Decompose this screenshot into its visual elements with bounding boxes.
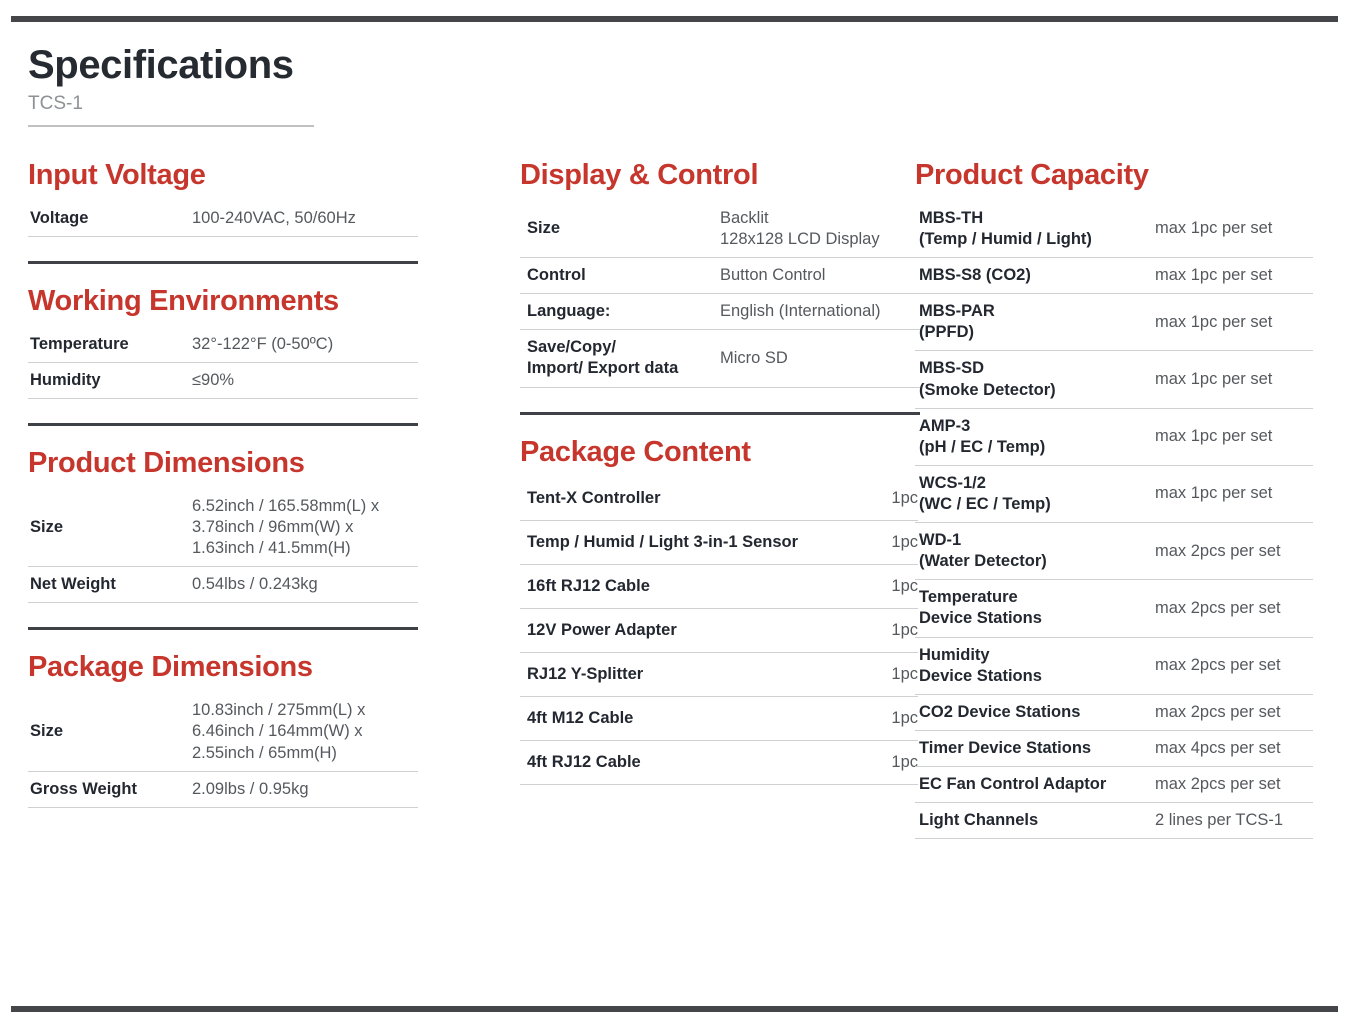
table-row: MBS-TH (Temp / Humid / Light) max 1pc pe… [915, 201, 1313, 258]
section-product-dimensions: Product Dimensions Size 6.52inch / 165.5… [28, 448, 470, 603]
package-item-name: 4ft RJ12 Cable [520, 741, 858, 785]
table-row: MBS-SD (Smoke Detector) max 1pc per set [915, 351, 1313, 408]
capacity-name: Light Channels [915, 803, 1155, 839]
capacity-qty: max 1pc per set [1155, 465, 1313, 522]
row-value: ≤90% [190, 363, 418, 399]
row-value: 0.54lbs / 0.243kg [190, 567, 418, 603]
package-item-name: 4ft M12 Cable [520, 697, 858, 741]
list-item: 4ft RJ12 Cable 1pc [520, 741, 918, 785]
capacity-name: MBS-TH (Temp / Humid / Light) [915, 201, 1155, 258]
row-label: Humidity [28, 363, 190, 399]
row-label: Size [28, 693, 190, 771]
page-header: Specifications TCS-1 [28, 44, 328, 127]
capacity-name: EC Fan Control Adaptor [915, 766, 1155, 802]
capacity-qty: max 1pc per set [1155, 201, 1313, 258]
table-row: Temperature Device Stations max 2pcs per… [915, 580, 1313, 637]
package-item-name: Tent-X Controller [520, 477, 858, 521]
list-item: 16ft RJ12 Cable 1pc [520, 565, 918, 609]
list-item: Tent-X Controller 1pc [520, 477, 918, 521]
row-label: Temperature [28, 327, 190, 363]
row-value: 100-240VAC, 50/60Hz [190, 201, 418, 237]
row-value: Micro SD [720, 330, 920, 387]
capacity-qty: max 1pc per set [1155, 351, 1313, 408]
section-title-input-voltage: Input Voltage [28, 160, 470, 192]
table-product-capacity: MBS-TH (Temp / Humid / Light) max 1pc pe… [915, 201, 1313, 839]
row-label: Save/Copy/ Import/ Export data [520, 330, 720, 387]
capacity-name: Temperature Device Stations [915, 580, 1155, 637]
row-label: Size [28, 489, 190, 567]
table-row: Control Button Control [520, 258, 920, 294]
capacity-qty: max 1pc per set [1155, 408, 1313, 465]
capacity-qty: max 1pc per set [1155, 294, 1313, 351]
table-row: Size 10.83inch / 275mm(L) x 6.46inch / 1… [28, 693, 418, 771]
table-row: WCS-1/2 (WC / EC / Temp) max 1pc per set [915, 465, 1313, 522]
column-left: Input Voltage Voltage 100-240VAC, 50/60H… [0, 160, 470, 839]
row-label: Control [520, 258, 720, 294]
row-label: Gross Weight [28, 771, 190, 807]
column-right: Product Capacity MBS-TH (Temp / Humid / … [900, 160, 1349, 839]
table-row: Size Backlit 128x128 LCD Display [520, 201, 920, 258]
table-row: Timer Device Stations max 4pcs per set [915, 730, 1313, 766]
section-input-voltage: Input Voltage Voltage 100-240VAC, 50/60H… [28, 160, 470, 237]
table-row: Gross Weight 2.09lbs / 0.95kg [28, 771, 418, 807]
capacity-qty: max 2pcs per set [1155, 523, 1313, 580]
section-title-package-content: Package Content [520, 437, 900, 469]
section-title-working-environments: Working Environments [28, 286, 470, 318]
row-label: Voltage [28, 201, 190, 237]
top-rule [11, 16, 1338, 22]
table-row: Voltage 100-240VAC, 50/60Hz [28, 201, 418, 237]
capacity-name: Timer Device Stations [915, 730, 1155, 766]
table-row: MBS-PAR (PPFD) max 1pc per set [915, 294, 1313, 351]
table-row: Light Channels 2 lines per TCS-1 [915, 803, 1313, 839]
row-value: 6.52inch / 165.58mm(L) x 3.78inch / 96mm… [190, 489, 418, 567]
section-separator [520, 412, 920, 415]
row-value: English (International) [720, 294, 920, 330]
capacity-qty: max 2pcs per set [1155, 637, 1313, 694]
capacity-qty: max 4pcs per set [1155, 730, 1313, 766]
section-product-capacity: Product Capacity MBS-TH (Temp / Humid / … [915, 160, 1349, 839]
section-separator [28, 627, 418, 630]
table-product-dimensions: Size 6.52inch / 165.58mm(L) x 3.78inch /… [28, 489, 418, 603]
table-row: AMP-3 (pH / EC / Temp) max 1pc per set [915, 408, 1313, 465]
table-row: Save/Copy/ Import/ Export data Micro SD [520, 330, 920, 387]
row-value: Button Control [720, 258, 920, 294]
package-item-name: Temp / Humid / Light 3-in-1 Sensor [520, 521, 858, 565]
table-working-environments: Temperature 32°-122°F (0-50ºC) Humidity … [28, 327, 418, 399]
capacity-name: Humidity Device Stations [915, 637, 1155, 694]
section-separator [28, 261, 418, 264]
section-title-display-control: Display & Control [520, 160, 900, 192]
capacity-name: WCS-1/2 (WC / EC / Temp) [915, 465, 1155, 522]
row-value: Backlit 128x128 LCD Display [720, 201, 920, 258]
table-package-content: Tent-X Controller 1pc Temp / Humid / Lig… [520, 477, 918, 785]
capacity-qty: max 2pcs per set [1155, 766, 1313, 802]
table-package-dimensions: Size 10.83inch / 275mm(L) x 6.46inch / 1… [28, 693, 418, 807]
capacity-name: MBS-SD (Smoke Detector) [915, 351, 1155, 408]
page-subtitle-model: TCS-1 [28, 93, 314, 127]
capacity-qty: max 1pc per set [1155, 258, 1313, 294]
table-row: Humidity Device Stations max 2pcs per se… [915, 637, 1313, 694]
capacity-name: MBS-PAR (PPFD) [915, 294, 1155, 351]
row-label: Net Weight [28, 567, 190, 603]
capacity-qty: 2 lines per TCS-1 [1155, 803, 1313, 839]
list-item: RJ12 Y-Splitter 1pc [520, 653, 918, 697]
bottom-rule [11, 1006, 1338, 1012]
table-row: Size 6.52inch / 165.58mm(L) x 3.78inch /… [28, 489, 418, 567]
row-label: Size [520, 201, 720, 258]
section-package-content: Package Content Tent-X Controller 1pc Te… [520, 437, 900, 786]
package-item-name: 12V Power Adapter [520, 609, 858, 653]
table-row: MBS-S8 (CO2) max 1pc per set [915, 258, 1313, 294]
row-value: 10.83inch / 275mm(L) x 6.46inch / 164mm(… [190, 693, 418, 771]
table-row: CO2 Device Stations max 2pcs per set [915, 694, 1313, 730]
table-row: Language: English (International) [520, 294, 920, 330]
section-title-product-capacity: Product Capacity [915, 160, 1349, 192]
table-row: Temperature 32°-122°F (0-50ºC) [28, 327, 418, 363]
capacity-qty: max 2pcs per set [1155, 694, 1313, 730]
row-label: Language: [520, 294, 720, 330]
section-separator [28, 423, 418, 426]
package-item-name: RJ12 Y-Splitter [520, 653, 858, 697]
row-value: 2.09lbs / 0.95kg [190, 771, 418, 807]
section-working-environments: Working Environments Temperature 32°-122… [28, 286, 470, 399]
capacity-name: WD-1 (Water Detector) [915, 523, 1155, 580]
page-title: Specifications [28, 44, 328, 86]
section-display-control: Display & Control Size Backlit 128x128 L… [520, 160, 900, 388]
column-middle: Display & Control Size Backlit 128x128 L… [470, 160, 900, 839]
package-item-name: 16ft RJ12 Cable [520, 565, 858, 609]
list-item: 4ft M12 Cable 1pc [520, 697, 918, 741]
list-item: Temp / Humid / Light 3-in-1 Sensor 1pc [520, 521, 918, 565]
section-package-dimensions: Package Dimensions Size 10.83inch / 275m… [28, 652, 470, 807]
capacity-qty: max 2pcs per set [1155, 580, 1313, 637]
table-row: EC Fan Control Adaptor max 2pcs per set [915, 766, 1313, 802]
table-row: Humidity ≤90% [28, 363, 418, 399]
capacity-name: AMP-3 (pH / EC / Temp) [915, 408, 1155, 465]
section-title-package-dimensions: Package Dimensions [28, 652, 470, 684]
row-value: 32°-122°F (0-50ºC) [190, 327, 418, 363]
table-row: Net Weight 0.54lbs / 0.243kg [28, 567, 418, 603]
table-display-control: Size Backlit 128x128 LCD Display Control… [520, 201, 920, 388]
list-item: 12V Power Adapter 1pc [520, 609, 918, 653]
capacity-name: MBS-S8 (CO2) [915, 258, 1155, 294]
capacity-name: CO2 Device Stations [915, 694, 1155, 730]
table-row: WD-1 (Water Detector) max 2pcs per set [915, 523, 1313, 580]
spec-columns: Input Voltage Voltage 100-240VAC, 50/60H… [0, 160, 1349, 839]
section-title-product-dimensions: Product Dimensions [28, 448, 470, 480]
table-input-voltage: Voltage 100-240VAC, 50/60Hz [28, 201, 418, 237]
